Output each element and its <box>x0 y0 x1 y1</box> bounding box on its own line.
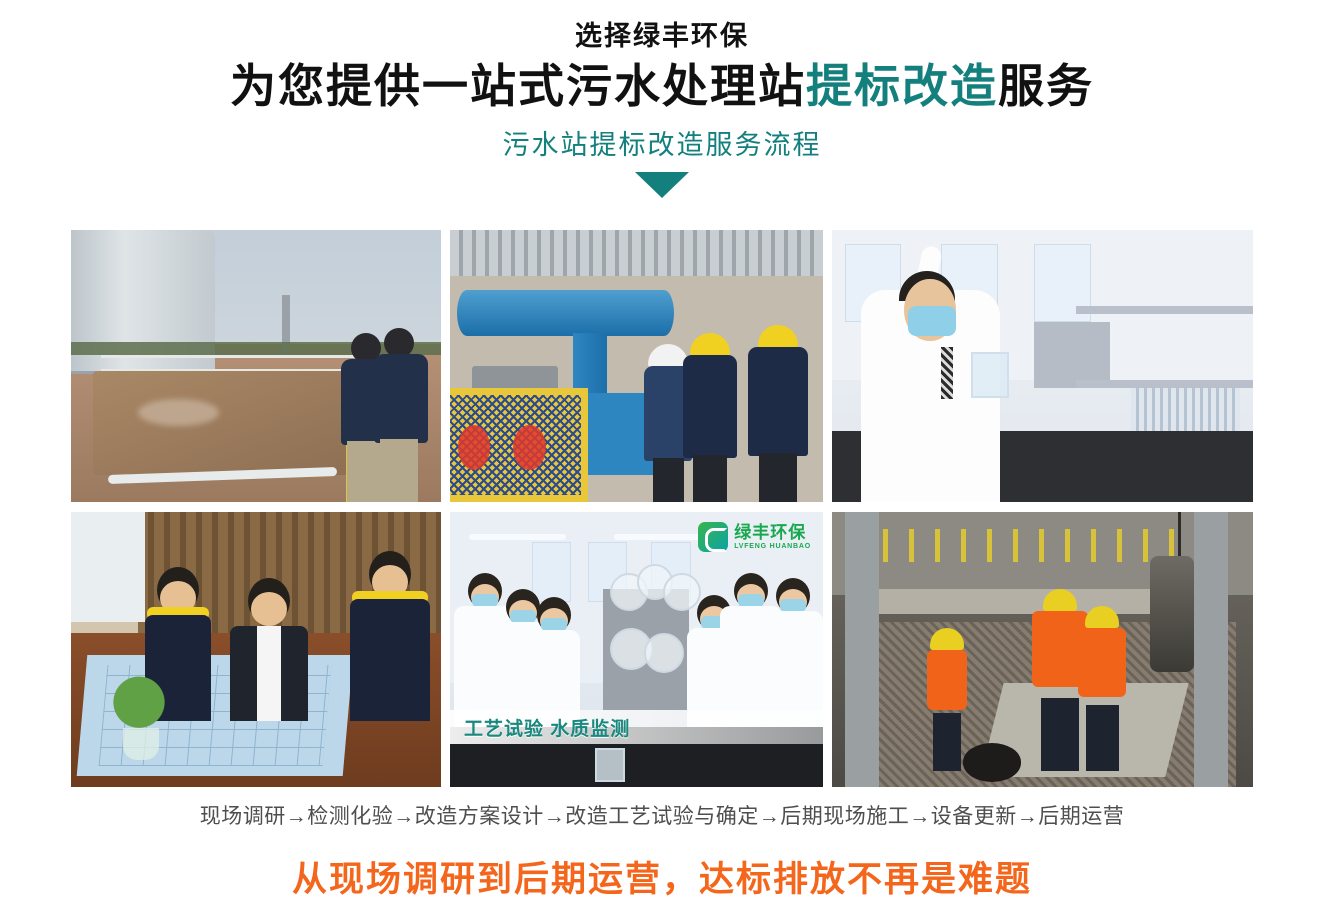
safety-vest-shape <box>1078 628 1126 697</box>
process-flow-text: 现场调研→检测化验→改造方案设计→改造工艺试验与确定→后期现场施工→设备更新→后… <box>0 800 1324 830</box>
photo-site-construction <box>832 512 1253 787</box>
headline-part-2: 服务 <box>998 60 1094 112</box>
hardhat-icon <box>930 628 964 650</box>
legs-shape <box>759 453 797 503</box>
safety-cage-shape <box>450 388 588 502</box>
ceiling-shape <box>450 230 823 276</box>
person-technician-6 <box>763 578 823 727</box>
legs-shape <box>380 439 418 502</box>
beaker-shape <box>971 352 1009 398</box>
flask-shape-5 <box>644 633 684 673</box>
ceiling-light-shape-2 <box>614 534 704 540</box>
foam-shape <box>138 399 219 426</box>
triangle-down-icon <box>635 172 689 198</box>
eyebrow-title: 选择绿丰环保 <box>0 22 1324 52</box>
logo-text: 绿丰环保 LVFENG HUANBAO <box>734 524 811 550</box>
person-worker-yellow-helmet-a <box>679 333 741 502</box>
lifted-equipment-shape <box>1150 556 1194 672</box>
legs-shape <box>693 455 728 502</box>
person-engineer-right <box>350 551 430 722</box>
aeration-water-shape <box>93 371 374 474</box>
ceiling-light-shape-1 <box>469 534 566 540</box>
face-shape <box>251 592 287 626</box>
photo-caption-band: 工艺试验 水质监测 <box>450 710 823 744</box>
column-shape-right <box>1194 512 1228 787</box>
hardhat-icon <box>690 333 730 357</box>
legs-shape <box>933 713 961 770</box>
photo-caption: 工艺试验 水质监测 <box>464 714 630 741</box>
lvfeng-logo-icon <box>698 522 728 552</box>
beaker-shape <box>595 748 625 782</box>
blue-duct-shape <box>457 290 673 336</box>
cabinet-shape <box>1034 322 1110 387</box>
shelf-shape-2 <box>1076 380 1253 388</box>
person-worker-right <box>1076 606 1128 771</box>
person-manager-center <box>230 578 308 721</box>
manhole-pit-shape <box>963 743 1022 782</box>
footer-tagline: 从现场调研到后期运营，达标排放不再是难题 <box>0 851 1324 902</box>
torso-shape <box>748 347 808 456</box>
test-tube-rack-shape <box>1131 388 1240 432</box>
hardhat-icon <box>1043 589 1077 611</box>
photo-process-test: 工艺试验 水质监测 绿丰环保 LVFENG HUANBAO <box>450 512 823 787</box>
shirt-shape <box>257 626 280 721</box>
necktie-shape <box>941 347 953 399</box>
person-worker-yellow-helmet-b <box>744 325 812 502</box>
promo-banner: 选择绿丰环保 为您提供一站式污水处理站提标改造服务 污水站提标改造服务流程 <box>0 0 1324 917</box>
face-mask-icon <box>738 594 764 607</box>
safety-vest-shape <box>927 650 967 710</box>
person-technician-3 <box>528 597 580 726</box>
shelf-shape-1 <box>1076 306 1253 314</box>
column-shape-left <box>845 512 879 787</box>
face-mask-icon <box>908 306 956 336</box>
photo-site-survey <box>71 230 441 502</box>
body-shape <box>374 354 428 443</box>
fan-shape-1 <box>458 425 490 470</box>
fan-shape-2 <box>513 425 545 470</box>
page-title: 为您提供一站式污水处理站提标改造服务 <box>0 58 1324 116</box>
hardhat-icon <box>1085 606 1119 628</box>
watermark-logo: 绿丰环保 LVFENG HUANBAO <box>698 522 811 552</box>
header: 选择绿丰环保 为您提供一站式污水处理站提标改造服务 污水站提标改造服务流程 <box>0 0 1324 198</box>
photo-gallery-grid: 工艺试验 水质监测 绿丰环保 LVFENG HUANBAO <box>71 230 1253 787</box>
photo-lab-titration <box>832 230 1253 502</box>
jacket-shape <box>350 599 430 722</box>
headline-part-1: 为您提供一站式污水处理站 <box>230 60 806 112</box>
plant-shape <box>101 671 177 749</box>
subtitle: 污水站提标改造服务流程 <box>0 129 1324 161</box>
legs-shape <box>1086 705 1119 771</box>
photo-blower-equipment <box>450 230 823 502</box>
arrow-wrap <box>0 172 1324 198</box>
hardhat-icon <box>758 325 798 349</box>
person-worker-left <box>925 628 969 771</box>
logo-name-cn: 绿丰环保 <box>734 524 811 541</box>
legs-shape <box>1041 698 1079 771</box>
logo-name-en: LVFENG HUANBAO <box>734 543 811 550</box>
photo-design-meeting <box>71 512 441 787</box>
torso-shape <box>683 355 737 458</box>
headline-highlight: 提标改造 <box>806 60 998 112</box>
window-shape <box>71 512 145 622</box>
person-engineer-b <box>370 328 430 502</box>
